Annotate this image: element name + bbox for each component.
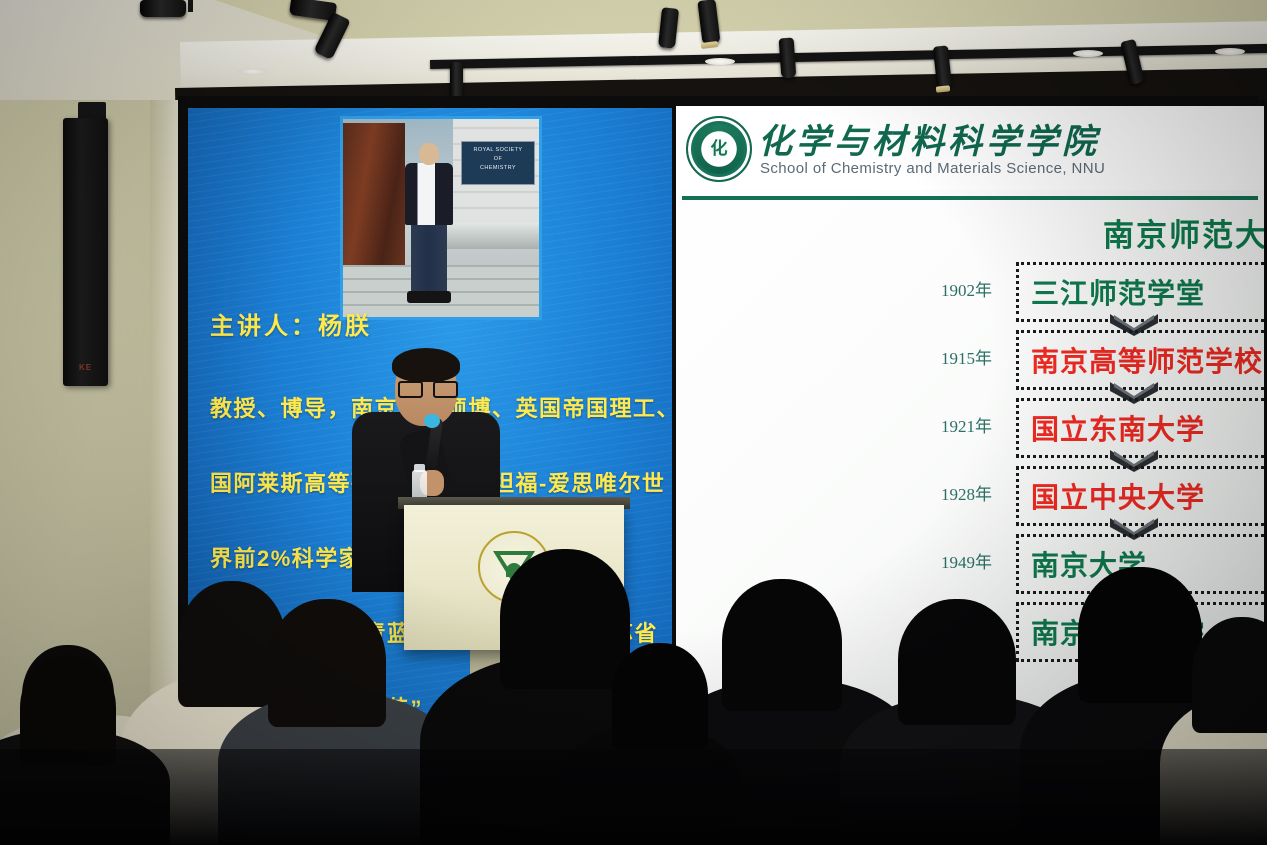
timeline-box: 国立中央大学	[1016, 466, 1264, 526]
downlight-icon	[705, 58, 735, 65]
photo-person-body	[405, 163, 453, 225]
slide-right-university-history: 化 化学与材料科学学院 School of Chemistry and Mate…	[676, 106, 1264, 778]
slide-header: 化 化学与材料科学学院 School of Chemistry and Mate…	[676, 106, 1264, 190]
royal-society-plaque: ROYAL SOCIETY OF CHEMISTRY	[461, 141, 535, 185]
glasses-icon	[398, 381, 454, 394]
timeline-year: 1915年	[922, 344, 992, 369]
downlight-icon	[238, 68, 268, 75]
timeline-name: 国立东南大学	[1019, 408, 1205, 448]
timeline-name: 南京师范学院	[1019, 612, 1205, 652]
timeline-row: 1928年 国立中央大学	[676, 460, 1264, 528]
timeline-box: 三江师范学堂	[1016, 262, 1264, 322]
school-name-cn: 化学与材料科学学院	[758, 114, 1100, 163]
timeline-row: 1949年 南京大学	[676, 528, 1264, 596]
timeline-year: 1921年	[922, 412, 992, 437]
timeline-name: 南京大学	[1019, 544, 1147, 584]
podium	[404, 505, 624, 650]
microphone-head-icon	[424, 414, 440, 428]
wall-speaker: KE	[63, 118, 108, 386]
downlight-icon	[1073, 50, 1103, 57]
school-emblem-icon: 化	[686, 116, 752, 182]
lecture-hall-photo: KE ROYAL SOCIETY OF CHEMISTRY 主讲人：杨朕 教授、…	[0, 0, 1267, 845]
emblem-glyph: 化	[704, 134, 734, 164]
timeline-row: 南京师范学院	[676, 596, 1264, 664]
university-timeline: 1902年 三江师范学堂 1915年 南京高等师范学校	[676, 256, 1264, 664]
timeline-box: 国立东南大学	[1016, 398, 1264, 458]
timeline-year: 1928年	[922, 480, 992, 505]
speaker-portrait-photo: ROYAL SOCIETY OF CHEMISTRY	[340, 116, 542, 320]
timeline-name: 南京高等师范学校	[1019, 340, 1263, 380]
timeline-year: 1949年	[922, 548, 992, 573]
plaque-line: OF	[462, 155, 534, 164]
photo-person-head	[419, 143, 439, 165]
timeline-name: 三江师范学堂	[1019, 272, 1205, 312]
plaque-line: CHEMISTRY	[462, 164, 534, 173]
page-title: 南京师范大	[1103, 210, 1264, 255]
university-seal-icon	[478, 531, 550, 603]
timeline-year: 1902年	[922, 276, 992, 301]
photo-stone-ledge	[447, 223, 539, 249]
slide-body-line-5: 环境科学学会“十佳”	[210, 691, 423, 723]
podium-base	[470, 650, 548, 692]
downlight-icon	[1215, 48, 1245, 55]
timeline-box: 南京大学	[1016, 534, 1264, 594]
header-divider	[682, 196, 1258, 200]
timeline-row: 1902年 三江师范学堂	[676, 256, 1264, 324]
school-name-en: School of Chemistry and Materials Scienc…	[760, 160, 1105, 177]
plaque-line: ROYAL SOCIETY	[462, 146, 534, 155]
photo-person-shoes	[407, 291, 451, 303]
timeline-box: 南京高等师范学校	[1016, 330, 1264, 390]
timeline-row: 1915年 南京高等师范学校	[676, 324, 1264, 392]
slide-speaker-name: 主讲人：杨朕	[210, 306, 372, 341]
presenter-hair	[392, 348, 460, 382]
speaker-brand-label: KE	[63, 363, 108, 372]
timeline-box: 南京师范学院	[1016, 602, 1264, 662]
timeline-name: 国立中央大学	[1019, 476, 1205, 516]
audience-shoulders	[0, 730, 170, 845]
photo-door	[343, 123, 405, 283]
photo-person-legs	[411, 223, 447, 295]
timeline-row: 1921年 国立东南大学	[676, 392, 1264, 460]
